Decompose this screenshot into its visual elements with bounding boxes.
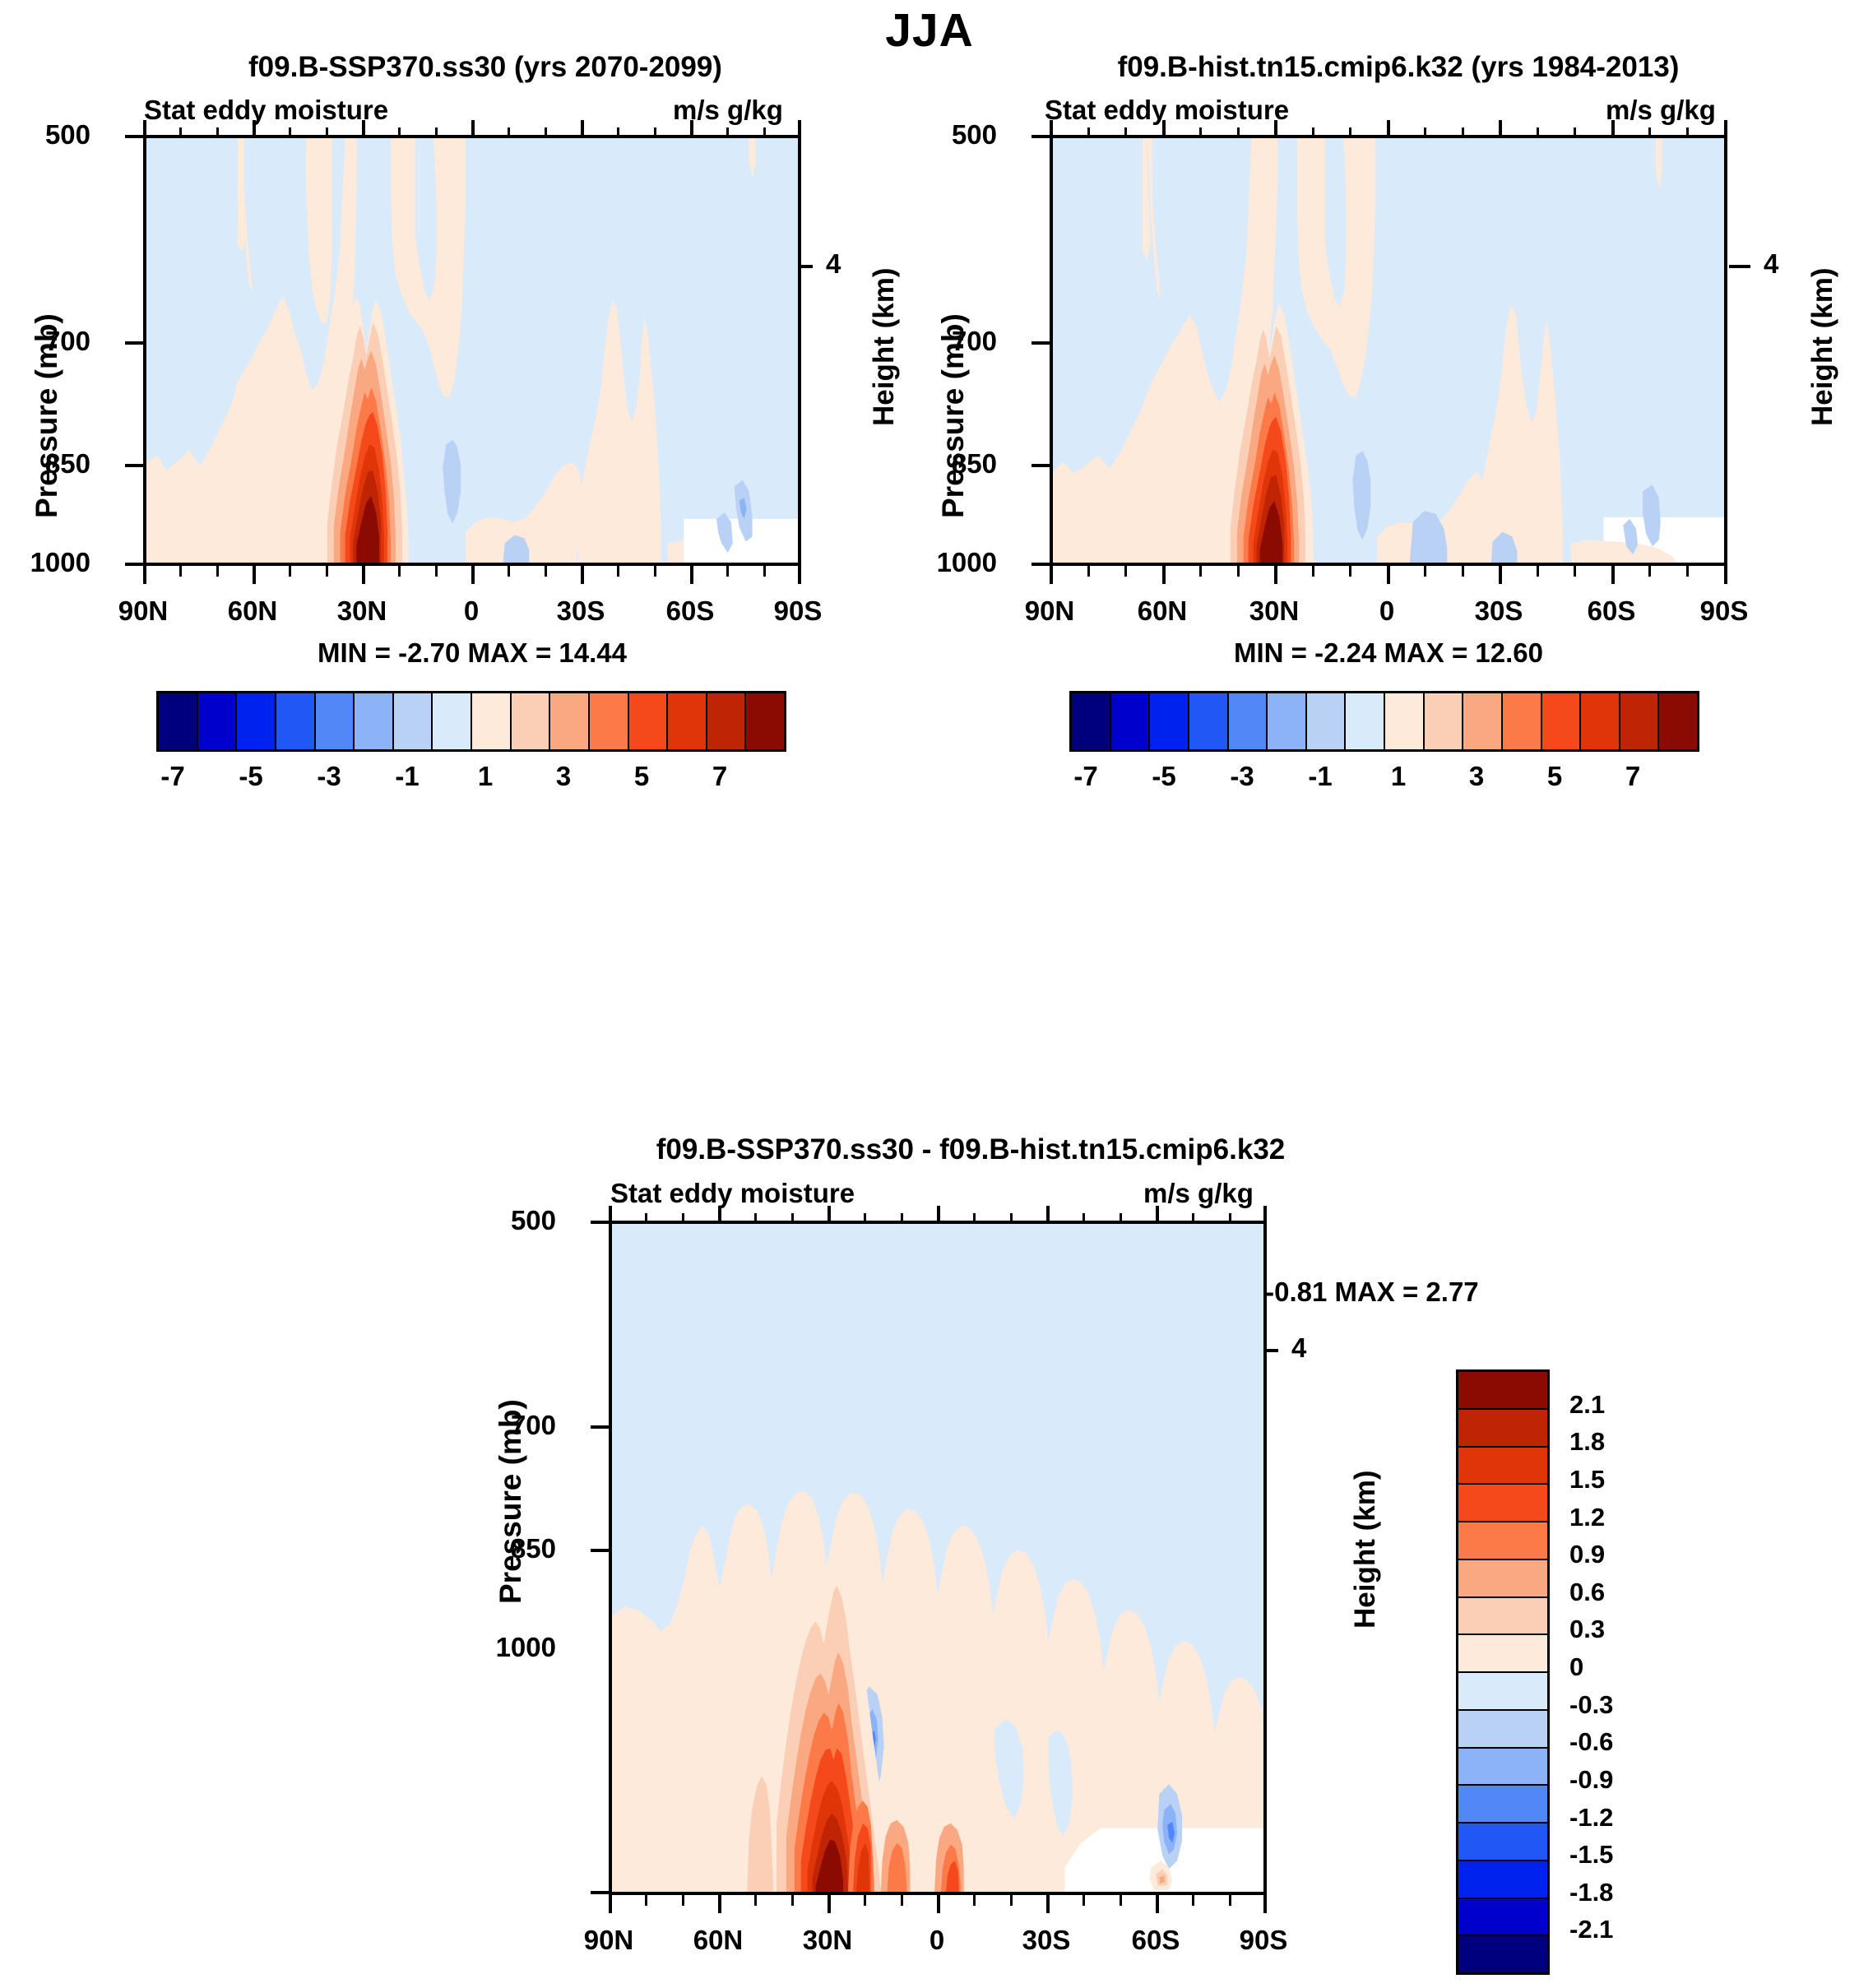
x-tick-mark xyxy=(1046,1895,1050,1913)
x-tick-label: 90N xyxy=(94,595,192,627)
x-tick-mark-top xyxy=(726,127,729,137)
x-tick-mark-top xyxy=(1199,127,1202,137)
x-tick-mark xyxy=(690,566,693,584)
x-tick-mark xyxy=(1611,566,1615,584)
colorbar-top-right[interactable] xyxy=(1069,691,1699,752)
x-tick-mark xyxy=(1156,1895,1159,1913)
x-tick-mark xyxy=(1424,566,1426,577)
right-axis-title-bottom: Height (km) xyxy=(1349,1471,1382,1629)
panel-title-top-right: f09.B-hist.tn15.cmip6.k32 (yrs 1984-2013… xyxy=(938,51,1859,84)
x-tick-mark-top xyxy=(718,1206,721,1222)
contour-plot-bottom[interactable] xyxy=(609,1221,1267,1895)
x-tick-mark-top xyxy=(1499,120,1502,137)
colorbar-cell xyxy=(1458,1522,1547,1560)
colorbar-label: -0.3 xyxy=(1569,1690,1613,1720)
x-tick-mark xyxy=(617,566,619,577)
x-tick-label: 60N xyxy=(1113,595,1212,627)
y-tick-label: 1000 xyxy=(915,547,997,578)
x-tick-mark xyxy=(1120,1895,1122,1906)
colorbar-label: 0.3 xyxy=(1569,1615,1605,1644)
x-tick-label: 60S xyxy=(1106,1925,1205,1956)
x-tick-label: 30N xyxy=(778,1925,877,1956)
colorbar-cell xyxy=(1581,693,1620,749)
colorbar-cell xyxy=(512,693,551,749)
colorbar-label: -0.9 xyxy=(1569,1765,1613,1795)
x-tick-mark-top xyxy=(1162,120,1166,137)
x-tick-mark-top xyxy=(143,120,146,137)
x-tick-mark-top xyxy=(1050,120,1053,137)
colorbar-cell xyxy=(590,693,629,749)
x-tick-mark-top xyxy=(326,127,328,137)
x-tick-mark xyxy=(362,566,365,584)
colorbar-cell xyxy=(1458,1448,1547,1485)
colorbar-cell xyxy=(1659,693,1697,749)
colorbar-cell xyxy=(1458,1372,1547,1410)
x-tick-label: 30S xyxy=(531,595,630,627)
x-tick-mark-top xyxy=(1387,120,1390,137)
x-tick-mark xyxy=(1082,1895,1085,1906)
colorbar-label: 1.5 xyxy=(1569,1465,1605,1494)
colorbar-cell xyxy=(1458,1936,1547,1972)
y-tick-mark xyxy=(591,1425,609,1429)
y-tick-label: 500 xyxy=(8,119,90,151)
colorbar-cell xyxy=(472,693,512,749)
x-tick-label: 30N xyxy=(1225,595,1324,627)
x-tick-mark xyxy=(1686,566,1689,577)
x-tick-mark-top xyxy=(645,1213,647,1222)
colorbar-cell xyxy=(1229,693,1268,749)
x-tick-mark xyxy=(1274,566,1277,584)
x-tick-mark-top xyxy=(398,127,401,137)
x-tick-mark xyxy=(1724,566,1727,584)
x-tick-mark xyxy=(216,566,219,577)
colorbar-cell xyxy=(668,693,707,749)
x-tick-mark-top xyxy=(216,127,219,137)
x-tick-mark xyxy=(798,566,801,584)
x-tick-mark-top xyxy=(545,127,547,137)
x-tick-mark-top xyxy=(864,1213,866,1222)
y-tick-label: 700 xyxy=(915,326,997,357)
x-tick-mark xyxy=(763,566,766,577)
colorbar-cell xyxy=(1503,693,1542,749)
height-tick-label-bottom: 4 xyxy=(1291,1332,1306,1364)
x-tick-mark xyxy=(1087,566,1090,577)
colorbar-cell xyxy=(1458,1749,1547,1786)
contour-plot-top-right[interactable] xyxy=(1050,135,1727,566)
x-tick-mark xyxy=(1462,566,1464,577)
colorbar-label: 0 xyxy=(1569,1652,1583,1682)
x-tick-mark-top xyxy=(1263,1206,1267,1222)
x-tick-mark-top xyxy=(1462,127,1464,137)
y-tick-label: 850 xyxy=(8,448,90,480)
colorbar-cell xyxy=(198,693,238,749)
x-tick-mark xyxy=(654,566,656,577)
colorbar-bottom-vertical[interactable] xyxy=(1456,1369,1550,1975)
x-tick-mark-top xyxy=(1192,1213,1194,1222)
y-tick-label: 500 xyxy=(474,1205,556,1236)
x-tick-mark xyxy=(828,1895,831,1913)
x-tick-mark xyxy=(1124,566,1127,577)
colorbar-cell xyxy=(629,693,669,749)
contour-canvas-bottom xyxy=(612,1224,1263,1892)
x-tick-mark-top xyxy=(1010,1213,1013,1222)
colorbar-cell xyxy=(1458,1560,1547,1598)
x-tick-mark xyxy=(901,1895,903,1906)
right-axis-title-top-right: Height (km) xyxy=(1806,268,1839,427)
x-tick-mark xyxy=(398,566,401,577)
x-tick-mark xyxy=(253,566,256,584)
colorbar-label: 1.2 xyxy=(1569,1503,1605,1532)
x-tick-mark xyxy=(581,566,584,584)
x-tick-label: 60S xyxy=(1562,595,1661,627)
x-tick-mark-top xyxy=(1424,127,1426,137)
y-tick-label: 500 xyxy=(915,119,997,151)
x-tick-label: 90S xyxy=(749,595,847,627)
colorbar-cell xyxy=(1268,693,1307,749)
x-tick-mark xyxy=(682,1895,684,1906)
colorbar-cell xyxy=(1458,1635,1547,1673)
x-tick-mark xyxy=(143,566,146,584)
panel-subtitle-left-top-right: Stat eddy moisture xyxy=(1045,95,1289,126)
x-tick-mark xyxy=(1574,566,1576,577)
colorbar-cell xyxy=(1620,693,1660,749)
x-tick-mark-top xyxy=(471,120,475,137)
x-tick-mark xyxy=(1263,1895,1267,1913)
x-tick-mark xyxy=(1229,1895,1231,1906)
x-tick-mark xyxy=(973,1895,976,1906)
x-tick-mark-top xyxy=(1537,127,1539,137)
height-tick-label-top-left: 4 xyxy=(826,248,841,280)
colorbar-cell xyxy=(276,693,316,749)
colorbar-cell xyxy=(1150,693,1189,749)
x-tick-label: 30S xyxy=(1449,595,1548,627)
x-tick-mark xyxy=(1199,566,1202,577)
x-tick-label: 0 xyxy=(888,1925,986,1956)
colorbar-cell xyxy=(1458,1673,1547,1711)
y-tick-mark xyxy=(125,563,143,566)
minmax-label-bottom: MIN = -0.81 MAX = 2.77 xyxy=(1184,1277,1760,1308)
x-tick-mark xyxy=(754,1895,757,1906)
x-tick-label: 60N xyxy=(203,595,302,627)
figure-root: JJA f09.B-SSP370.ss30 (yrs 2070-2099) St… xyxy=(0,0,1859,1988)
colorbar-cell xyxy=(1458,1786,1547,1823)
y-tick-label: 700 xyxy=(474,1410,556,1441)
panel-subtitle-right-bottom: m/s g/kg xyxy=(1143,1178,1254,1209)
x-tick-mark-top xyxy=(763,127,766,137)
colorbar-label: -2.1 xyxy=(1569,1915,1613,1944)
x-tick-mark-top xyxy=(1087,127,1090,137)
x-tick-mark-top xyxy=(1312,127,1314,137)
x-tick-mark xyxy=(545,566,547,577)
x-tick-label: 90S xyxy=(1214,1925,1313,1956)
x-tick-mark-top xyxy=(1156,1206,1159,1222)
colorbar-cell xyxy=(433,693,472,749)
x-tick-mark-top xyxy=(609,1206,612,1222)
x-tick-mark xyxy=(718,1895,721,1913)
colorbar-label: -1.2 xyxy=(1569,1803,1613,1833)
colorbar-cell xyxy=(355,693,394,749)
x-tick-label: 60S xyxy=(641,595,739,627)
x-tick-mark xyxy=(1648,566,1651,577)
colorbar-cell xyxy=(746,693,784,749)
colorbar-cell xyxy=(707,693,747,749)
colorbar-label: -1.5 xyxy=(1569,1840,1613,1870)
x-tick-mark xyxy=(471,566,475,584)
y-tick-mark xyxy=(125,464,143,467)
x-tick-mark-top xyxy=(581,120,584,137)
height-tick-mark-top-right xyxy=(1729,265,1750,268)
colorbar-cell xyxy=(1458,1861,1547,1899)
x-tick-mark xyxy=(1312,566,1314,577)
colorbar-label: -0.6 xyxy=(1569,1727,1613,1757)
y-tick-label: 700 xyxy=(8,326,90,357)
page-title: JJA xyxy=(0,3,1859,58)
x-tick-mark-top xyxy=(1120,1213,1122,1222)
x-tick-mark xyxy=(435,566,438,577)
x-tick-mark xyxy=(508,566,510,577)
x-tick-mark-top xyxy=(1229,1213,1231,1222)
colorbar-cell xyxy=(1458,1410,1547,1448)
panel-subtitle-right-top-right: m/s g/kg xyxy=(1606,95,1716,126)
x-tick-mark xyxy=(1050,566,1053,584)
x-tick-mark xyxy=(1010,1895,1013,1906)
x-tick-mark xyxy=(937,1895,940,1913)
right-axis-title-top-left: Height (km) xyxy=(868,268,901,427)
x-tick-mark-top xyxy=(682,1213,684,1222)
x-tick-mark-top xyxy=(1349,127,1351,137)
x-tick-mark xyxy=(1349,566,1351,577)
colorbar-cell xyxy=(550,693,590,749)
x-tick-mark xyxy=(179,566,182,577)
panel-subtitle-left-bottom: Stat eddy moisture xyxy=(610,1178,855,1209)
x-tick-mark xyxy=(1537,566,1539,577)
x-tick-mark-top xyxy=(1124,127,1127,137)
x-tick-mark-top xyxy=(1046,1206,1050,1222)
colorbar-label: -1.8 xyxy=(1569,1878,1613,1907)
y-tick-mark xyxy=(1031,341,1050,345)
x-tick-mark-top xyxy=(690,120,693,137)
y-tick-mark xyxy=(591,1549,609,1552)
x-tick-mark xyxy=(645,1895,647,1906)
x-tick-label: 90N xyxy=(559,1925,658,1956)
x-tick-label: 90N xyxy=(1000,595,1099,627)
x-tick-mark xyxy=(1499,566,1502,584)
colorbar-label: 0.9 xyxy=(1569,1540,1605,1569)
colorbar-cell xyxy=(1458,1823,1547,1861)
contour-canvas-top-left xyxy=(146,138,798,563)
colorbar-label: 7 xyxy=(670,761,769,792)
x-tick-mark-top xyxy=(791,1213,794,1222)
colorbar-label: 0.6 xyxy=(1569,1578,1605,1607)
colorbar-cell xyxy=(1385,693,1425,749)
x-tick-mark-top xyxy=(1686,127,1689,137)
colorbar-cell xyxy=(1458,1598,1547,1636)
x-tick-label: 0 xyxy=(1337,595,1436,627)
x-tick-mark-top xyxy=(754,1213,757,1222)
x-tick-mark-top xyxy=(253,120,256,137)
y-tick-mark xyxy=(591,1891,609,1894)
y-tick-mark xyxy=(1031,464,1050,467)
x-tick-mark-top xyxy=(508,127,510,137)
x-tick-mark-top xyxy=(901,1213,903,1222)
x-tick-mark-top xyxy=(654,127,656,137)
minmax-label-top-right: MIN = -2.24 MAX = 12.60 xyxy=(1050,637,1727,669)
y-tick-label: 1000 xyxy=(8,547,90,578)
x-tick-mark-top xyxy=(1237,127,1240,137)
x-tick-mark xyxy=(1237,566,1240,577)
x-tick-mark xyxy=(326,566,328,577)
contour-plot-top-left[interactable] xyxy=(143,135,801,566)
y-tick-mark xyxy=(125,341,143,345)
x-tick-mark-top xyxy=(179,127,182,137)
x-tick-mark-top xyxy=(362,120,365,137)
colorbar-label: 2.1 xyxy=(1569,1390,1605,1420)
x-tick-mark-top xyxy=(289,127,291,137)
colorbar-cell xyxy=(1189,693,1229,749)
x-tick-mark-top xyxy=(937,1206,940,1222)
colorbar-cell xyxy=(394,693,433,749)
y-tick-mark xyxy=(591,1221,609,1224)
colorbar-label: 7 xyxy=(1583,761,1682,792)
colorbar-top-left[interactable] xyxy=(156,691,786,752)
colorbar-cell xyxy=(159,693,198,749)
panel-subtitle-left-top-left: Stat eddy moisture xyxy=(144,95,388,126)
colorbar-cell xyxy=(1111,693,1151,749)
y-tick-mark xyxy=(1031,135,1050,138)
x-tick-label: 30S xyxy=(997,1925,1096,1956)
y-tick-label: 850 xyxy=(915,448,997,480)
x-tick-mark-top xyxy=(1274,120,1277,137)
panel-title-top-left: f09.B-SSP370.ss30 (yrs 2070-2099) xyxy=(49,51,921,84)
x-tick-mark xyxy=(1192,1895,1194,1906)
colorbar-cell xyxy=(1458,1485,1547,1522)
minmax-label-top-left: MIN = -2.70 MAX = 14.44 xyxy=(143,637,801,669)
x-tick-label: 90S xyxy=(1675,595,1773,627)
x-tick-mark-top xyxy=(435,127,438,137)
x-tick-mark xyxy=(289,566,291,577)
x-tick-mark xyxy=(726,566,729,577)
x-tick-mark-top xyxy=(1648,127,1651,137)
colorbar-cell xyxy=(237,693,276,749)
colorbar-cell xyxy=(1425,693,1464,749)
x-tick-mark xyxy=(791,1895,794,1906)
colorbar-label: 1.8 xyxy=(1569,1427,1605,1457)
y-tick-mark xyxy=(125,135,143,138)
height-tick-label-top-right: 4 xyxy=(1764,248,1778,280)
x-tick-mark-top xyxy=(617,127,619,137)
x-tick-mark-top xyxy=(1724,120,1727,137)
x-tick-mark xyxy=(609,1895,612,1913)
x-tick-label: 60N xyxy=(669,1925,767,1956)
x-tick-mark xyxy=(1387,566,1390,584)
colorbar-cell xyxy=(1458,1899,1547,1937)
panel-title-bottom: f09.B-SSP370.ss30 - f09.B-hist.tn15.cmip… xyxy=(461,1133,1481,1166)
x-tick-mark-top xyxy=(1082,1213,1085,1222)
x-tick-mark-top xyxy=(1574,127,1576,137)
x-tick-mark-top xyxy=(828,1206,831,1222)
y-tick-mark xyxy=(1031,563,1050,566)
x-tick-mark-top xyxy=(1611,120,1615,137)
y-tick-label: 850 xyxy=(474,1533,556,1564)
colorbar-cell xyxy=(1458,1711,1547,1749)
colorbar-cell xyxy=(1463,693,1503,749)
colorbar-cell xyxy=(1072,693,1111,749)
x-tick-label: 0 xyxy=(422,595,521,627)
colorbar-cell xyxy=(1346,693,1385,749)
colorbar-cell xyxy=(1307,693,1347,749)
x-tick-label: 30N xyxy=(313,595,411,627)
y-tick-label: 1000 xyxy=(474,1632,556,1663)
colorbar-cell xyxy=(316,693,355,749)
contour-canvas-top-right xyxy=(1053,138,1724,563)
x-tick-mark xyxy=(864,1895,866,1906)
x-tick-mark-top xyxy=(798,120,801,137)
x-tick-mark-top xyxy=(973,1213,976,1222)
colorbar-cell xyxy=(1542,693,1582,749)
x-tick-mark xyxy=(1162,566,1166,584)
